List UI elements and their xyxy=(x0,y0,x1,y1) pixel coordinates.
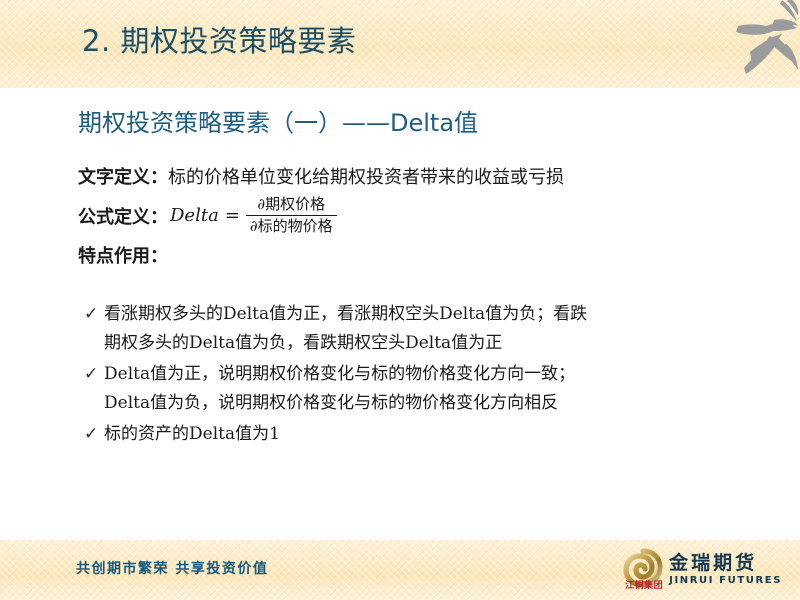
list-item-line: 看涨期权多头的Delta值为正，看涨期权空头Delta值为负；看跌 xyxy=(104,300,764,329)
list-item-text: Delta值为正，说明期权价格变化与标的物价格变化方向一致； Delta值为负，… xyxy=(104,360,764,418)
slide-content: 期权投资策略要素（一）——Delta值 文字定义：标的价格单位变化给期权投资者带… xyxy=(0,88,800,540)
list-item-line: 期权多头的Delta值为负，看跌期权空头Delta值为正 xyxy=(104,329,764,358)
page-title: 2. 期权投资策略要素 xyxy=(82,21,356,61)
list-item: ✓ 看涨期权多头的Delta值为正，看涨期权空头Delta值为负；看跌 期权多头… xyxy=(84,300,764,358)
formula-numerator: ∂期权价格 xyxy=(253,195,329,215)
list-item-line: 标的资产的Delta值为1 xyxy=(104,420,764,449)
slide-header: 2. 期权投资策略要素 xyxy=(0,0,800,88)
formula-definition-line: 公式定义： Delta = ∂期权价格 ∂标的物价格 xyxy=(78,195,738,236)
feature-label: 特点作用： xyxy=(78,242,738,272)
list-item-line: Delta值为负，说明期权价格变化与标的物价格变化方向相反 xyxy=(104,389,764,418)
formula-variable: Delta xyxy=(170,205,219,226)
logo-wordmark: 金瑞期货 JINRUI FUTURES xyxy=(669,548,782,590)
check-icon: ✓ xyxy=(84,360,104,389)
text-definition-line: 文字定义：标的价格单位变化给期权投资者带来的收益或亏损 xyxy=(78,163,738,193)
list-item-text: 看涨期权多头的Delta值为正，看涨期权空头Delta值为负；看跌 期权多头的D… xyxy=(104,300,764,358)
list-item: ✓ Delta值为正，说明期权价格变化与标的物价格变化方向一致； Delta值为… xyxy=(84,360,764,418)
definition-block: 文字定义：标的价格单位变化给期权投资者带来的收益或亏损 公式定义： Delta … xyxy=(78,163,738,272)
slide-footer: 共创期市繁荣 共享投资价值 xyxy=(0,540,800,600)
list-item-text: 标的资产的Delta值为1 xyxy=(104,420,764,449)
section-title: 期权投资策略要素（一）——Delta值 xyxy=(78,106,478,140)
formula-definition-label: 公式定义： xyxy=(78,203,168,229)
formula-denominator: ∂标的物价格 xyxy=(246,215,337,236)
footer-slogan: 共创期市繁荣 共享投资价值 xyxy=(76,558,268,578)
list-item: ✓ 标的资产的Delta值为1 xyxy=(84,420,764,449)
check-icon: ✓ xyxy=(84,300,104,329)
text-definition-value: 标的价格单位变化给期权投资者带来的收益或亏损 xyxy=(168,167,564,188)
bullet-list: ✓ 看涨期权多头的Delta值为正，看涨期权空头Delta值为负；看跌 期权多头… xyxy=(84,300,764,451)
company-logo: 金瑞期货 JINRUI FUTURES 江铜集团 xyxy=(623,548,782,592)
slide: 2. 期权投资策略要素 期权投资策略要素（一）——Delta值 文字定义：标的价… xyxy=(0,0,800,600)
formula-fraction: ∂期权价格 ∂标的物价格 xyxy=(246,195,337,236)
check-icon: ✓ xyxy=(84,420,104,449)
list-item-line: Delta值为正，说明期权价格变化与标的物价格变化方向一致； xyxy=(104,360,764,389)
logo-name-cn: 金瑞期货 xyxy=(669,552,782,574)
bamboo-leaves-icon xyxy=(678,0,798,88)
logo-name-en: JINRUI FUTURES xyxy=(669,574,782,587)
formula-equals-sign: = xyxy=(225,205,240,226)
logo-parent-company: 江铜集团 xyxy=(625,578,663,591)
text-definition-label: 文字定义： xyxy=(78,167,168,188)
